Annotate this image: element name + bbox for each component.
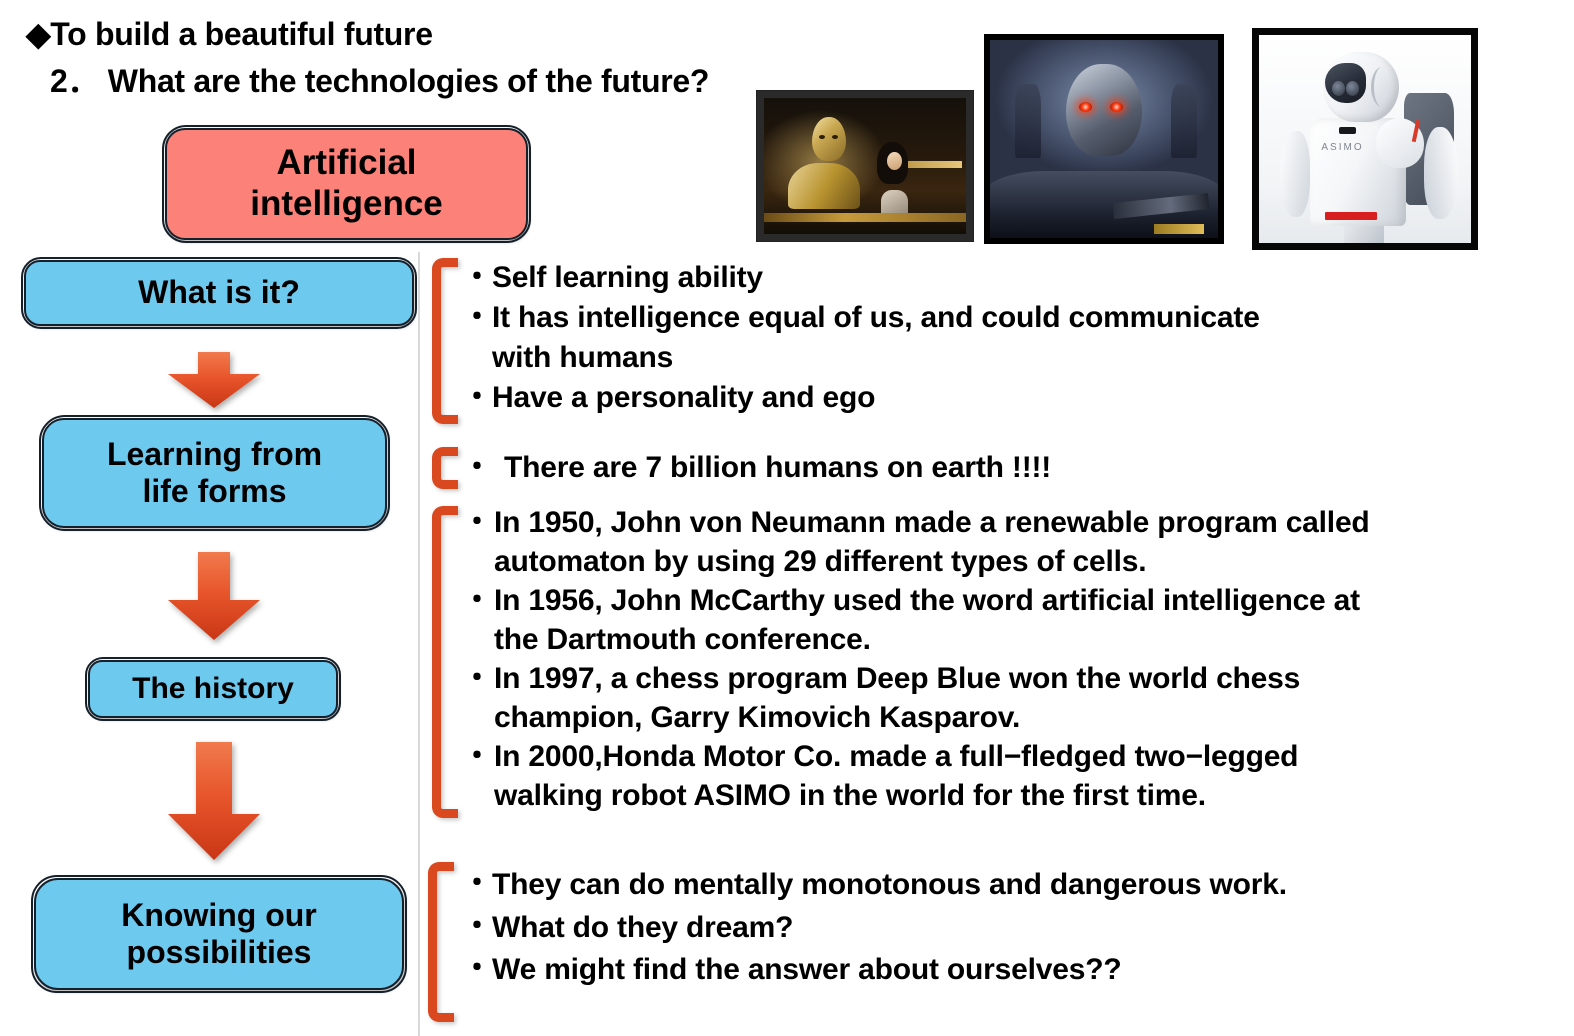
list-item: ・ Self learning ability (462, 258, 1472, 298)
flow-node-label-line1: Artificial (250, 143, 443, 184)
flow-arrow-1-icon (166, 352, 262, 408)
asimo-chest-label: ASIMO (1321, 142, 1363, 153)
flow-node-what-is-it[interactable]: What is it? (24, 260, 414, 326)
photo-strip: ASIMO (752, 28, 1492, 250)
bullet-mark-icon: ・ (462, 949, 492, 989)
flow-arrow-3-icon (166, 742, 262, 860)
flow-node-label-line1: What is it? (138, 274, 300, 311)
bullet-mark-icon: ・ (462, 503, 492, 543)
list-item-text: Self learning ability (492, 258, 1472, 298)
slide-title-block: ◆To build a beautiful future 2． What are… (26, 14, 786, 101)
bullet-list-learning-from-life-forms: ・ There are 7 billion humans on earth !!… (462, 448, 1472, 488)
bullet-mark-icon: ・ (462, 737, 492, 777)
page-title: ◆To build a beautiful future (26, 14, 786, 54)
flow-node-knowing-our-possibilities[interactable]: Knowing our possibilities (34, 878, 404, 990)
flow-node-label-line2: intelligence (250, 184, 443, 225)
list-item: ・ It has intelligence equal of us, and c… (462, 298, 1472, 378)
list-item-text: In 1950, John von Neumann made a renewab… (494, 506, 1370, 539)
list-item: ・ In 1950, John von Neumann made a renew… (462, 503, 1532, 581)
list-item-text: What do they dream? (492, 907, 1482, 950)
flow-node-learning-from-life-forms[interactable]: Learning from life forms (42, 418, 387, 528)
bullet-list-what-is-it: ・ Self learning ability ・ It has intelli… (462, 258, 1472, 418)
bracket-what-is-it (432, 258, 458, 424)
list-item: ・ They can do mentally monotonous and da… (462, 864, 1482, 907)
list-item-text-cont: walking robot ASIMO in the world for the… (494, 779, 1206, 812)
flow-node-artificial-intelligence[interactable]: Artificial intelligence (165, 128, 528, 240)
flow-node-label-line2: possibilities (121, 934, 317, 971)
bullet-mark-icon: ・ (462, 864, 492, 904)
bullet-mark-icon: ・ (462, 581, 492, 621)
list-item-text-cont: with humans (492, 341, 673, 374)
bullet-mark-icon: ・ (462, 907, 492, 947)
list-item: ・ In 2000,Honda Motor Co. made a full−fl… (462, 737, 1532, 815)
honda-logo (1325, 212, 1377, 220)
list-item-text: In 1956, John McCarthy used the word art… (494, 584, 1360, 617)
list-item-text: In 1997, a chess program Deep Blue won t… (494, 662, 1300, 695)
bullet-mark-icon: ・ (462, 298, 492, 338)
bullet-list-the-history: ・ In 1950, John von Neumann made a renew… (462, 503, 1532, 815)
bullet-mark-icon: ・ (462, 378, 492, 418)
flow-node-label-line1: The history (132, 672, 294, 707)
list-item-text: Have a personality and ego (492, 378, 1472, 418)
list-item: ・ Have a personality and ego (462, 378, 1472, 418)
list-item: ・ In 1997, a chess program Deep Blue won… (462, 659, 1532, 737)
list-item-text: They can do mentally monotonous and dang… (492, 864, 1482, 907)
list-item-text: We might find the answer about ourselves… (492, 949, 1482, 992)
bracket-the-history (432, 506, 458, 818)
list-item-text: It has intelligence equal of us, and cou… (492, 301, 1260, 334)
flow-node-the-history[interactable]: The history (88, 660, 338, 718)
bullet-mark-icon: ・ (462, 448, 504, 488)
bullet-list-knowing-our-possibilities: ・ They can do mentally monotonous and da… (462, 864, 1482, 992)
flow-node-label-line2: life forms (107, 473, 322, 510)
bracket-knowing-our-possibilities (428, 862, 454, 1022)
flow-arrow-2-icon (166, 552, 262, 640)
bracket-learning-from-life-forms (432, 447, 458, 489)
list-item-text-cont: the Dartmouth conference. (494, 623, 871, 656)
list-item: ・ What do they dream? (462, 907, 1482, 950)
list-item-text-cont: champion, Garry Kimovich Kasparov. (494, 701, 1020, 734)
list-item-text: There are 7 billion humans on earth !!!! (504, 448, 1472, 488)
page-subtitle: 2． What are the technologies of the futu… (50, 61, 786, 101)
photo-terminator-endoskeleton (984, 34, 1224, 244)
bullet-mark-icon: ・ (462, 258, 492, 298)
list-item: ・ In 1956, John McCarthy used the word a… (462, 581, 1532, 659)
list-item-text-cont: automaton by using 29 different types of… (494, 545, 1146, 578)
bullet-mark-icon: ・ (462, 659, 492, 699)
column-divider (418, 252, 420, 1036)
list-item: ・ We might find the answer about ourselv… (462, 949, 1482, 992)
flow-node-label-line1: Learning from (107, 436, 322, 473)
photo-bicentennial-man-robot (756, 90, 974, 242)
list-item: ・ There are 7 billion humans on earth !!… (462, 448, 1472, 488)
list-item-text: In 2000,Honda Motor Co. made a full−fled… (494, 740, 1298, 773)
flow-node-label-line1: Knowing our (121, 897, 317, 934)
photo-honda-asimo: ASIMO (1252, 28, 1478, 250)
